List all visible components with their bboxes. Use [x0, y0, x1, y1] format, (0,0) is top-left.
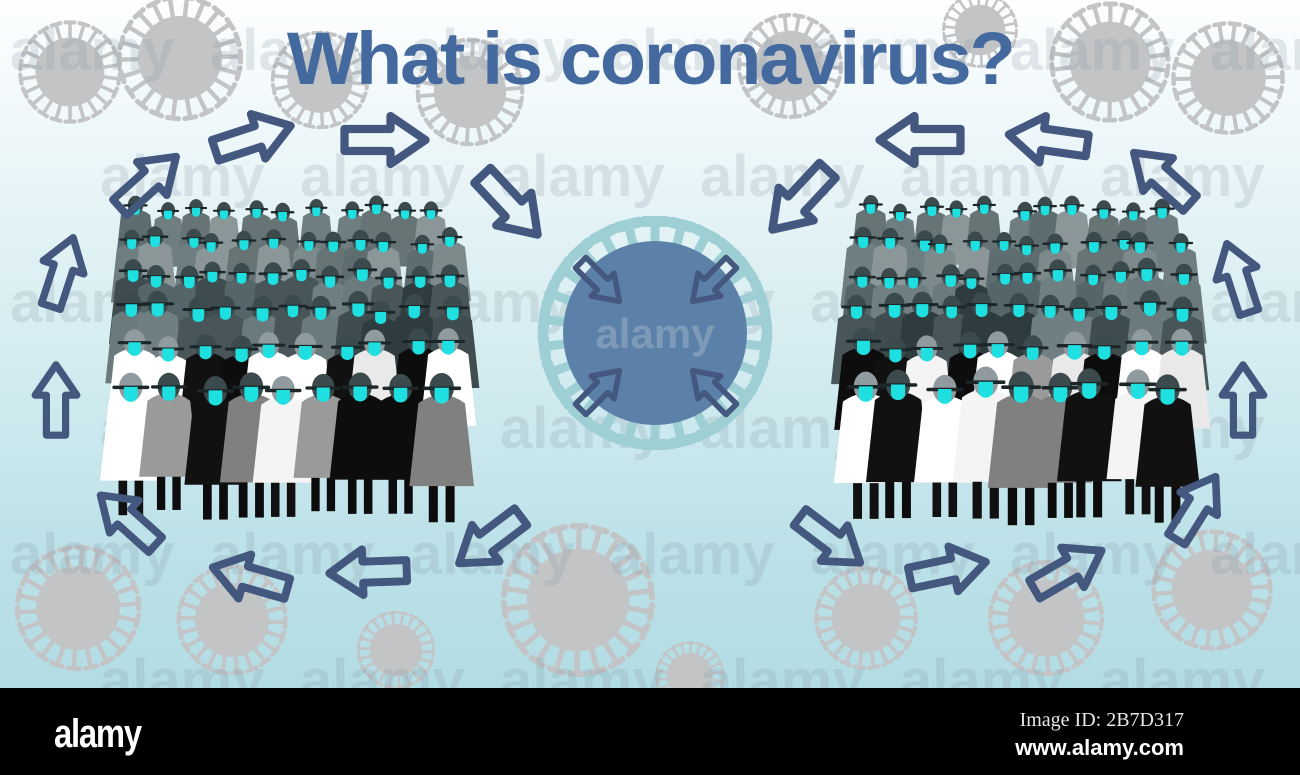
face-mask	[128, 270, 139, 282]
person-legs	[271, 480, 295, 517]
face-mask	[368, 342, 380, 356]
face-mask	[128, 342, 140, 356]
person-body	[1135, 396, 1199, 487]
watermark-text: alamy	[500, 648, 664, 688]
face-mask	[150, 236, 160, 247]
face-mask	[200, 346, 212, 359]
website-label: www.alamy.com	[1015, 735, 1184, 761]
face-mask	[162, 386, 175, 400]
watermark-text: alamy	[100, 648, 264, 688]
face-mask	[384, 278, 394, 289]
face-mask	[356, 240, 366, 251]
face-mask	[162, 349, 174, 362]
face-mask	[1053, 270, 1063, 282]
watermark-text: alamy	[700, 144, 864, 209]
person-legs	[853, 481, 878, 519]
face-mask	[1176, 342, 1189, 356]
face-mask	[921, 348, 933, 361]
face-mask	[1021, 211, 1030, 221]
face-mask	[328, 242, 338, 253]
face-mask	[435, 388, 449, 404]
face-mask	[1088, 275, 1098, 286]
face-mask	[418, 244, 427, 254]
face-mask	[1022, 245, 1031, 255]
face-mask	[1176, 243, 1185, 253]
face-mask	[124, 387, 138, 402]
face-mask	[445, 237, 454, 247]
face-mask	[967, 278, 977, 289]
watermark-text: alamy	[1010, 18, 1174, 83]
face-mask	[971, 241, 980, 251]
face-mask	[189, 238, 198, 248]
person-legs	[239, 480, 264, 518]
watermark-text: alamy	[210, 18, 374, 83]
face-mask	[220, 210, 228, 219]
face-mask	[964, 345, 976, 359]
face-mask	[207, 242, 216, 252]
face-mask	[857, 341, 870, 355]
face-mask	[263, 345, 275, 359]
face-mask	[276, 390, 289, 405]
watermark-text: alamy	[900, 648, 1064, 688]
coronavirus-particle: alamy	[537, 216, 773, 451]
face-mask	[375, 312, 386, 324]
screenshot-root: alamyalamyalamyalamyalamyalamyalamyalamy…	[0, 0, 1300, 775]
face-mask	[239, 240, 248, 250]
face-mask	[976, 304, 988, 317]
face-mask	[916, 304, 928, 317]
face-mask	[1067, 205, 1076, 215]
face-mask	[164, 211, 172, 220]
image-id-label: Image ID: 2B7D317	[1020, 709, 1184, 732]
face-mask	[268, 273, 279, 285]
face-mask	[372, 205, 381, 215]
watermark-text: alamy	[1210, 18, 1300, 83]
watermark-text: alamy	[610, 18, 774, 83]
crowd-right	[831, 195, 1210, 525]
face-mask	[312, 207, 320, 216]
face-mask	[1141, 269, 1152, 281]
face-mask	[357, 269, 368, 281]
face-mask	[208, 272, 218, 283]
face-mask	[341, 347, 353, 360]
face-mask	[1053, 387, 1067, 402]
person-legs	[429, 483, 455, 522]
face-mask	[1000, 274, 1010, 285]
face-mask	[296, 270, 306, 281]
face-mask	[352, 304, 364, 317]
virus-watermark: alamy	[595, 310, 715, 357]
face-mask	[252, 209, 260, 218]
face-mask	[1014, 387, 1029, 403]
watermark-text: alamy	[700, 648, 864, 688]
face-mask	[1135, 242, 1145, 253]
watermark-text: alamy	[1100, 648, 1264, 688]
face-mask	[193, 309, 205, 322]
person-legs	[1008, 485, 1035, 525]
face-mask	[1177, 309, 1189, 322]
face-mask	[1089, 242, 1099, 253]
face-mask	[992, 344, 1004, 358]
alamy-footer-bar: alamy Image ID: 2B7D317 www.alamy.com	[0, 688, 1300, 775]
person-legs	[348, 477, 372, 514]
face-mask	[1082, 383, 1096, 399]
face-mask	[235, 349, 247, 363]
face-mask	[1144, 303, 1156, 316]
face-mask	[1129, 211, 1137, 220]
person-legs	[389, 477, 413, 513]
poster-illustration: alamyalamyalamyalamyalamyalamyalamyalamy…	[0, 0, 1300, 688]
poster-artboard: alamyalamyalamyalamyalamyalamyalamyalamy…	[0, 0, 1300, 688]
person-legs	[1048, 480, 1073, 518]
face-mask	[858, 237, 868, 248]
face-mask	[857, 277, 867, 288]
face-mask	[325, 276, 335, 287]
alamy-logo: alamy	[54, 712, 141, 757]
crowd-left	[100, 195, 479, 522]
face-mask	[1068, 345, 1081, 360]
face-mask	[1045, 306, 1056, 318]
face-mask	[184, 277, 195, 289]
face-mask	[348, 210, 356, 219]
face-mask	[237, 273, 247, 284]
face-mask	[908, 278, 918, 289]
face-mask	[1098, 346, 1110, 359]
face-mask	[946, 307, 957, 319]
face-mask	[1000, 241, 1009, 251]
face-mask	[126, 304, 137, 317]
face-mask	[244, 387, 258, 402]
face-mask	[1136, 342, 1148, 356]
face-mask	[379, 242, 388, 252]
face-mask	[884, 278, 894, 289]
face-mask	[891, 384, 905, 400]
face-mask	[866, 204, 875, 214]
face-mask	[269, 239, 278, 249]
face-mask	[152, 303, 164, 316]
person-legs	[311, 476, 335, 512]
face-mask	[220, 307, 231, 319]
face-mask	[447, 307, 459, 320]
face-mask	[317, 388, 330, 403]
face-mask	[415, 277, 425, 288]
face-mask	[1074, 309, 1085, 322]
watermark-text: alamy	[410, 18, 574, 83]
converging-arrow	[35, 365, 77, 435]
face-mask	[315, 308, 326, 320]
face-mask	[409, 306, 420, 319]
face-mask	[1013, 305, 1024, 317]
face-mask	[885, 238, 895, 249]
face-mask	[192, 208, 200, 217]
face-mask	[890, 349, 902, 362]
face-mask	[299, 346, 312, 360]
face-mask	[952, 209, 960, 218]
face-mask	[209, 390, 223, 405]
face-mask	[394, 388, 407, 403]
watermark-text: alamy	[10, 18, 174, 83]
face-mask	[401, 210, 409, 219]
face-mask	[920, 241, 930, 252]
face-mask	[980, 205, 989, 215]
person-body	[409, 395, 474, 486]
watermark-text: alamy	[1210, 522, 1300, 587]
face-mask	[927, 206, 936, 216]
face-mask	[127, 239, 136, 249]
watermark-text: alamy	[810, 18, 974, 83]
face-mask	[445, 276, 456, 288]
face-mask	[442, 341, 454, 355]
face-mask	[413, 341, 425, 354]
face-mask	[1041, 206, 1050, 216]
watermark-text: alamy	[1100, 144, 1264, 209]
face-mask	[889, 305, 901, 318]
face-mask	[896, 212, 904, 221]
face-mask	[978, 382, 992, 398]
person-legs	[1076, 479, 1102, 518]
face-mask	[1179, 274, 1189, 285]
face-mask	[1022, 273, 1032, 284]
person-legs	[203, 482, 228, 519]
person-legs	[932, 480, 957, 517]
watermark-text: alamy	[610, 522, 774, 587]
face-mask	[151, 276, 162, 288]
face-mask	[304, 241, 313, 251]
face-mask	[1027, 347, 1039, 360]
face-mask	[1116, 272, 1126, 283]
face-mask	[257, 308, 269, 321]
face-mask	[1105, 307, 1117, 320]
person-legs	[157, 474, 181, 510]
face-mask	[938, 389, 952, 404]
watermark-text: alamy	[300, 648, 464, 688]
face-mask	[1161, 389, 1175, 405]
face-mask	[936, 244, 945, 254]
face-mask	[1099, 209, 1108, 219]
face-mask	[353, 387, 366, 402]
face-mask	[945, 275, 956, 287]
face-mask	[1158, 208, 1167, 218]
face-mask	[859, 386, 873, 402]
face-mask	[427, 210, 435, 219]
face-mask	[1050, 243, 1059, 253]
face-mask	[288, 306, 299, 318]
face-mask	[278, 212, 287, 222]
face-mask	[1120, 240, 1129, 250]
person-legs	[885, 480, 911, 519]
face-mask	[851, 307, 862, 319]
face-mask	[1131, 384, 1145, 399]
